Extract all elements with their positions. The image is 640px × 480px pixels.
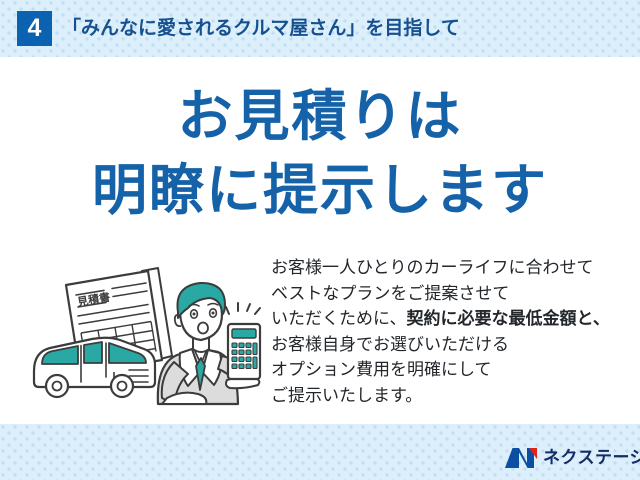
body-copy: お客様一人ひとりのカーライフに合わせて ベストなプランをご提案させて いただくた… — [271, 255, 635, 408]
body-line-1: お客様一人ひとりのカーライフに合わせて — [271, 255, 635, 281]
brand-logo: ネクステージ — [505, 444, 640, 472]
headline-line-1: お見積りは — [0, 86, 640, 146]
header-title: 「みんなに愛されるクルマ屋さん」を目指して — [62, 11, 460, 46]
body-line-3-plain: いただくために、 — [271, 309, 407, 328]
headline-line-2: 明瞭に提示します — [0, 160, 640, 220]
body-line-6: ご提示いたします。 — [271, 383, 635, 409]
promo-slide: 4 「みんなに愛されるクルマ屋さん」を目指して お見積りは 明瞭に提示します お… — [0, 0, 640, 480]
body-line-4: お客様自身でお選びいただける — [271, 332, 635, 358]
calculator-icon — [228, 324, 260, 379]
body-line-2: ベストなプランをご提案させて — [271, 281, 635, 307]
sparkle-icon — [226, 303, 260, 314]
body-line-3-emphasis: 契約に必要な最低金額と、 — [407, 309, 610, 328]
body-line-5: オプション費用を明確にして — [271, 357, 635, 383]
brand-wordmark: ネクステージ — [543, 447, 640, 469]
van-icon — [34, 338, 155, 397]
step-number-badge: 4 — [17, 11, 52, 46]
quote-illustration: 見積書 — [22, 252, 270, 424]
body-line-3: いただくために、契約に必要な最低金額と、 — [271, 306, 635, 332]
nextage-n-icon — [505, 447, 537, 469]
